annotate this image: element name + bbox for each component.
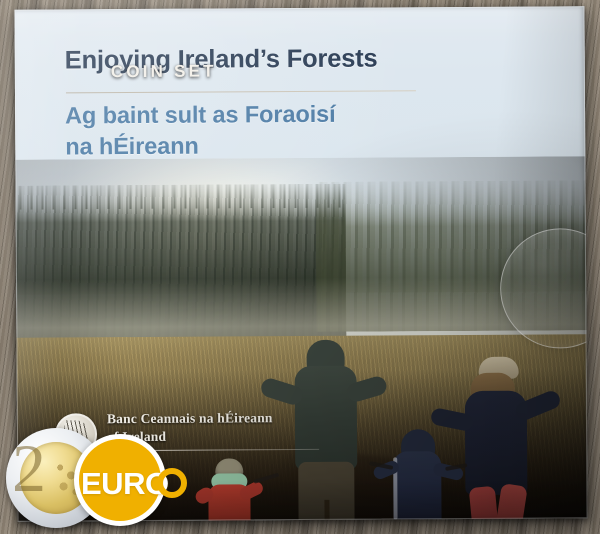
wooden-table-background: Enjoying Ireland’s Forests Ag baint sult… [0, 0, 600, 534]
figure-child-navy-coat [385, 429, 456, 522]
euro-watermark: 2 EURO [2, 424, 212, 532]
watermark-wordmark: EURO [81, 468, 169, 499]
woman-arm-right [513, 388, 562, 422]
coin-set-label: COIN SET [111, 62, 217, 83]
watermark-o-ring [157, 468, 187, 498]
figure-adult-man [268, 340, 379, 522]
package-header: Enjoying Ireland’s Forests Ag baint sult… [14, 6, 585, 174]
adult-man-jacket [295, 366, 358, 470]
subtitle-line-1: Ag baint sult as Foraoisí [65, 98, 485, 131]
coin-denomination: 2 [12, 434, 46, 502]
figure-woman [449, 356, 562, 521]
child-navy-coat [393, 451, 441, 522]
adult-man-leg-gap [324, 500, 329, 522]
child-navy-legs [399, 519, 437, 522]
subtitle-irish: Ag baint sult as Foraoisí na hÉireann [65, 98, 485, 162]
title-divider [66, 90, 416, 93]
